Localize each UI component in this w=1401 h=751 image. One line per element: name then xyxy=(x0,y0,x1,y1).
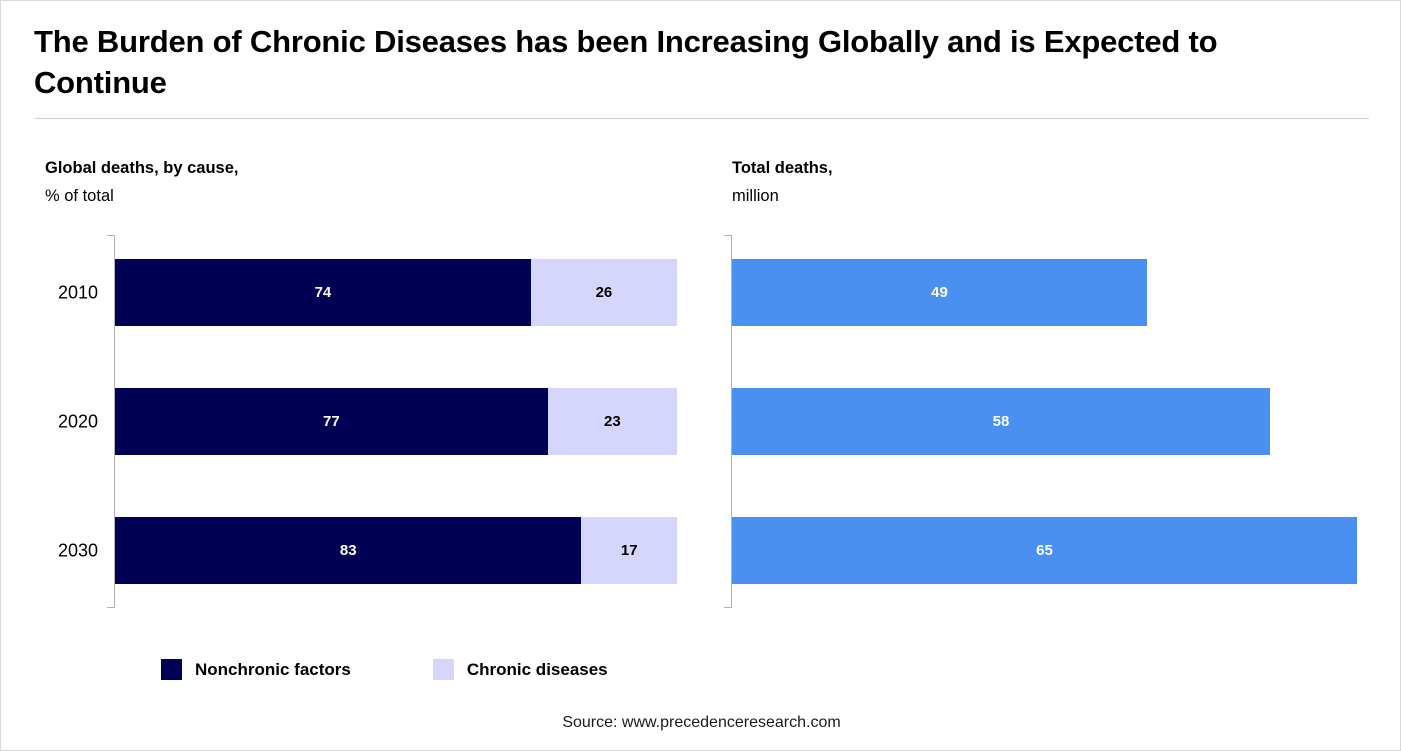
page-title: The Burden of Chronic Diseases has been … xyxy=(34,21,1314,103)
bar-row: 2020 77 23 xyxy=(115,388,677,455)
bar-segment-chronic[interactable]: 26 xyxy=(531,259,677,326)
left-chart-plot-area: 2010 74 26 2020 77 23 2030 83 17 xyxy=(114,235,676,608)
bar-value-label: 83 xyxy=(340,542,357,559)
right-chart-subtitle: Total deaths, million xyxy=(732,154,833,211)
left-axis-tick-bottom xyxy=(107,607,114,608)
chart-legend: Nonchronic factors Chronic diseases xyxy=(161,659,608,680)
bar-value-label: 49 xyxy=(931,284,948,301)
right-axis-tick-top xyxy=(724,235,731,236)
bar-value-label: 17 xyxy=(621,542,638,559)
right-chart-subtitle-line2: million xyxy=(732,182,833,210)
bar-value-label: 23 xyxy=(604,413,621,430)
bar-total-deaths[interactable]: 58 xyxy=(732,388,1270,455)
category-label-2030-left: 2030 xyxy=(58,540,98,561)
left-chart-subtitle-line2: % of total xyxy=(45,182,238,210)
category-label-2010-left: 2010 xyxy=(58,282,98,303)
bar-segment-chronic[interactable]: 23 xyxy=(548,388,677,455)
bar-row: 49 xyxy=(732,259,1147,326)
left-chart-subtitle: Global deaths, by cause, % of total xyxy=(45,154,238,211)
legend-item-chronic[interactable]: Chronic diseases xyxy=(433,659,608,680)
legend-label: Chronic diseases xyxy=(467,660,608,680)
bar-row: 65 xyxy=(732,517,1357,584)
bar-row: 2010 74 26 xyxy=(115,259,677,326)
bar-segment-nonchronic[interactable]: 83 xyxy=(115,517,581,584)
right-axis-tick-bottom xyxy=(724,607,731,608)
right-chart-subtitle-line1: Total deaths, xyxy=(732,154,833,182)
bar-row: 58 xyxy=(732,388,1270,455)
source-note: Source: www.precedenceresearch.com xyxy=(1,714,1401,732)
bar-total-deaths[interactable]: 65 xyxy=(732,517,1357,584)
bar-segment-nonchronic[interactable]: 74 xyxy=(115,259,531,326)
bar-segment-nonchronic[interactable]: 77 xyxy=(115,388,548,455)
chart-page: The Burden of Chronic Diseases has been … xyxy=(0,0,1401,751)
right-chart-plot-area: 49 58 65 xyxy=(731,235,1357,608)
category-label-2020-left: 2020 xyxy=(58,411,98,432)
bar-total-deaths[interactable]: 49 xyxy=(732,259,1147,326)
bar-value-label: 58 xyxy=(993,413,1010,430)
legend-item-nonchronic[interactable]: Nonchronic factors xyxy=(161,659,351,680)
bar-value-label: 74 xyxy=(315,284,332,301)
bar-row: 2030 83 17 xyxy=(115,517,677,584)
legend-label: Nonchronic factors xyxy=(195,660,351,680)
header-divider xyxy=(34,118,1369,119)
bar-segment-chronic[interactable]: 17 xyxy=(581,517,677,584)
legend-swatch-icon xyxy=(161,659,182,680)
legend-swatch-icon xyxy=(433,659,454,680)
bar-value-label: 65 xyxy=(1036,542,1053,559)
left-chart-subtitle-line1: Global deaths, by cause, xyxy=(45,154,238,182)
bar-value-label: 26 xyxy=(596,284,613,301)
left-axis-tick-top xyxy=(107,235,114,236)
bar-value-label: 77 xyxy=(323,413,340,430)
